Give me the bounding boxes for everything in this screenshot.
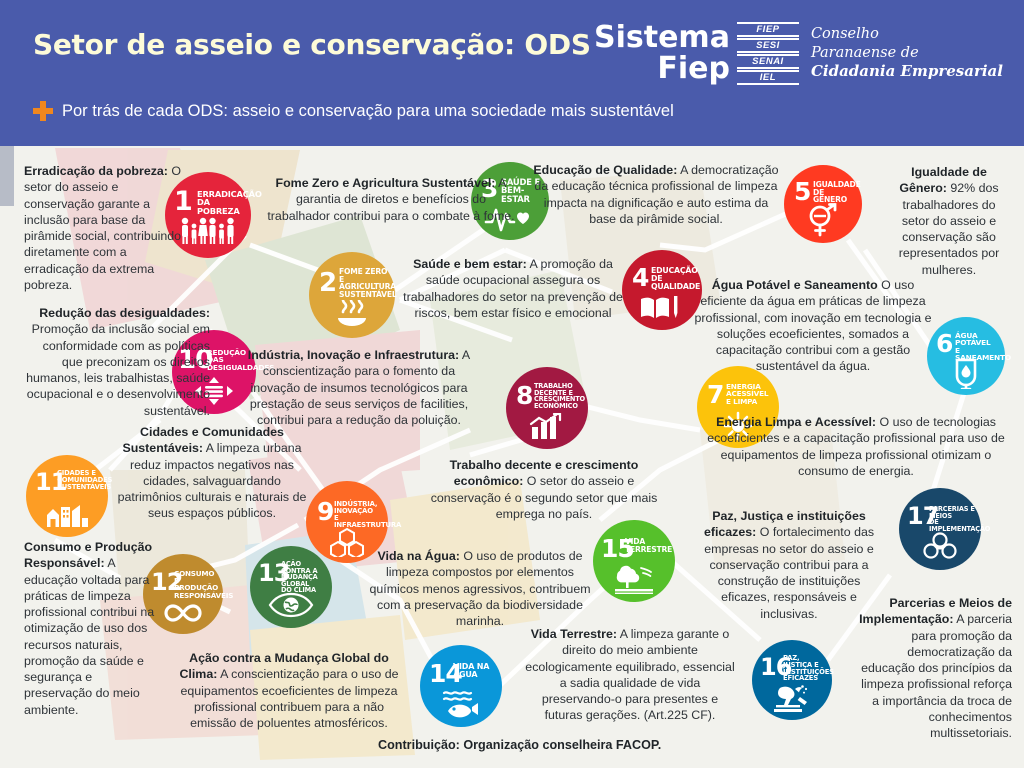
text-block-sdg-17: Parcerias e Meios de Implementação: A pa… xyxy=(852,595,1012,741)
sdg-14-heading: Vida na Água: xyxy=(377,549,459,563)
text-block-sdg-3: Saúde e bem estar: A promoção da saúde o… xyxy=(402,256,624,321)
book-icon xyxy=(622,294,702,327)
text-block-sdg-11: Cidades e Comunidades Sustentáveis: A li… xyxy=(116,424,308,522)
sdg-10-body: Promoção da inclusão social em conformid… xyxy=(26,322,210,417)
sdg-circle-4[interactable]: 4 EDUCAÇÃO DEQUALIDADE xyxy=(622,250,702,330)
sdg-circle-11[interactable]: 11 CIDADES ECOMUNIDADESSUSTENTÁVEIS xyxy=(26,455,108,537)
page-header: Setor de asseio e conservação: ODS Por t… xyxy=(0,0,1024,146)
page-title: Setor de asseio e conservação: ODS xyxy=(33,28,591,61)
sdg-10-heading: Redução das desigualdades: xyxy=(39,306,210,320)
circles-icon xyxy=(899,532,981,567)
sdg-circle-15[interactable]: 15 VIDATERRESTRE xyxy=(593,520,675,602)
logo-tagline-3: Cidadania Empresarial xyxy=(811,62,1003,81)
logo-line-1: Sistema xyxy=(594,23,730,54)
sdg-9-heading: Indústria, Inovação e Infraestrutura: xyxy=(248,348,459,362)
logo-bar-fiep: FIEP xyxy=(737,22,799,37)
sdg-9-number: 9 xyxy=(317,499,333,524)
footnote-text: Contribuição: Organização conselheira FA… xyxy=(378,738,661,752)
bowl-icon xyxy=(309,300,395,335)
sdg-circle-17[interactable]: 17 PARCERIAS E MEIOSDE IMPLEMENTAÇÃO xyxy=(899,488,981,570)
sdg-2-label: FOME ZERO EAGRICULTURASUSTENTÁVEL xyxy=(339,268,393,298)
sdg-1-body: O setor do asseio e conservação garante … xyxy=(24,164,181,292)
logo-tagline-1: Conselho xyxy=(811,25,1003,44)
gender-icon xyxy=(784,203,862,242)
page-subtitle: Por trás de cada ODS: asseio e conservaç… xyxy=(62,102,674,121)
chart-icon xyxy=(506,413,588,446)
sdg-1-label: ERRADICAÇÃODA POBREZA xyxy=(197,190,249,215)
sdg-16-body: O fortalecimento das empresas no setor d… xyxy=(704,525,874,620)
sistema-fiep-logo: Sistema Fiep FIEP SESI SENAI IEL Conselh… xyxy=(594,22,1003,85)
logo-bar-iel: IEL xyxy=(737,70,799,85)
sdg-12-body: A educação voltada para práticas de limp… xyxy=(24,556,154,716)
sdg-7-heading: Energia Limpa e Acessível: xyxy=(716,415,876,429)
sdg-circle-6[interactable]: 6 ÁGUA POTÁVELE SANEAMENTO xyxy=(927,317,1005,395)
sdg-circle-13[interactable]: 13 AÇÃO CONTRA AMUDANÇA GLOBALDO CLIMA xyxy=(250,546,332,628)
left-edge-accent xyxy=(0,146,14,206)
sdg-8-number: 8 xyxy=(516,383,532,408)
sdg-15-heading: Vida Terrestre: xyxy=(531,627,617,641)
sdg-7-label: ENERGIA ACESSÍVELE LIMPA xyxy=(726,383,776,405)
sdg-6-body: O uso eficiente da água em práticas de l… xyxy=(695,278,932,373)
sdg-2-number: 2 xyxy=(319,270,336,296)
text-block-sdg-10: Redução das desigualdades: Promoção da i… xyxy=(22,305,210,419)
text-block-sdg-5: Igualdade de Gênero: 92% dos trabalhador… xyxy=(888,164,1010,278)
logo-tagline-2: Paranaense de xyxy=(811,44,1003,63)
logo-wordmark: Sistema Fiep xyxy=(594,23,730,84)
text-block-sdg-4: Educação de Qualidade: A democratização … xyxy=(532,162,780,227)
sdg-4-number: 4 xyxy=(632,265,648,290)
sdg-12-label: CONSUMO EPRODUÇÃORESPONSÁVEIS xyxy=(174,570,220,599)
sdg-4-heading: Educação de Qualidade: xyxy=(533,163,677,177)
fish-icon xyxy=(420,689,502,724)
sdg-5-number: 5 xyxy=(794,179,810,204)
sdg-9-label: INDÚSTRIA, INOVAÇÃOE INFRAESTRUTURA xyxy=(334,501,388,529)
sdg-circle-5[interactable]: 5 IGUALDADEDE GÊNERO xyxy=(784,165,862,243)
sdg-14-label: VIDA NAÁGUA xyxy=(453,663,499,679)
sdg-1-heading: Erradicação da pobreza: xyxy=(24,164,168,178)
text-block-sdg-1: Erradicação da pobreza: O setor do assei… xyxy=(24,163,184,293)
sdg-12-heading: Consumo e Produção Responsável: xyxy=(24,540,152,570)
sdg-15-label: VIDATERRESTRE xyxy=(625,538,673,553)
sdg-6-number: 6 xyxy=(936,331,952,356)
sdg-5-body: 92% dos trabalhadores do setor do asseio… xyxy=(899,181,1000,276)
sdg-16-label: PAZ, JUSTIÇA EINSTITUIÇÕESEFICAZES xyxy=(783,655,829,682)
infographic-canvas: 1 ERRADICAÇÃODA POBREZA 2 FOME ZERO EAGR… xyxy=(0,0,1024,768)
sdg-circle-2[interactable]: 2 FOME ZERO EAGRICULTURASUSTENTÁVEL xyxy=(309,252,395,338)
text-block-sdg-8: Trabalho decente e crescimento econômico… xyxy=(426,457,662,522)
text-block-sdg-14: Vida na Água: O uso de produtos de limpe… xyxy=(366,548,594,629)
sdg-6-heading: Água Potável e Saneamento xyxy=(712,278,878,292)
logo-bar-senai: SENAI xyxy=(737,54,799,69)
sdg-17-label: PARCERIAS E MEIOSDE IMPLEMENTAÇÃO xyxy=(929,506,979,532)
logo-brand-bars: FIEP SESI SENAI IEL xyxy=(737,22,799,85)
sdg-8-label: TRABALHO DECENTE ECRESCIMENTOECONÔMICO xyxy=(534,383,586,409)
sdg-2-heading: Fome Zero e Agricultura Sustentável: xyxy=(276,176,496,190)
text-block-sdg-7: Energia Limpa e Acessível: O uso de tecn… xyxy=(702,414,1010,479)
tree-icon xyxy=(593,562,675,599)
sdg-13-label: AÇÃO CONTRA AMUDANÇA GLOBALDO CLIMA xyxy=(281,561,329,594)
eye-globe-icon xyxy=(250,592,332,623)
sdg-circle-16[interactable]: 16 PAZ, JUSTIÇA EINSTITUIÇÕESEFICAZES xyxy=(752,640,832,720)
sdg-circle-8[interactable]: 8 TRABALHO DECENTE ECRESCIMENTOECONÔMICO xyxy=(506,367,588,449)
sdg-17-body: A parceria para promoção da democratizaç… xyxy=(861,612,1012,740)
text-block-sdg-13: Ação contra a Mudança Global do Clima: A… xyxy=(176,650,402,731)
text-block-sdg-12: Consumo e Produção Responsável: A educaç… xyxy=(24,539,160,718)
sdg-3-heading: Saúde e bem estar: xyxy=(413,257,527,271)
text-block-sdg-9: Indústria, Inovação e Infraestrutura: A … xyxy=(240,347,478,428)
city-icon xyxy=(26,501,108,534)
logo-bar-sesi: SESI xyxy=(737,38,799,53)
water-icon xyxy=(927,355,1005,394)
subtitle-row: Por trás de cada ODS: asseio e conservaç… xyxy=(33,101,674,121)
sdg-5-label: IGUALDADEDE GÊNERO xyxy=(813,181,859,204)
text-block-sdg-15: Vida Terrestre: A limpeza garante o dire… xyxy=(522,626,738,724)
logo-line-2: Fiep xyxy=(594,54,730,85)
text-block-sdg-6: Água Potável e Saneamento O uso eficient… xyxy=(693,277,933,375)
sdg-11-label: CIDADES ECOMUNIDADESSUSTENTÁVEIS xyxy=(57,470,105,490)
logo-tagline: Conselho Paranaense de Cidadania Empresa… xyxy=(811,25,1003,81)
sdg-15-body: A limpeza garante o direito do meio ambi… xyxy=(525,627,734,722)
sdg-7-number: 7 xyxy=(707,382,723,407)
text-block-sdg-2: Fome Zero e Agricultura Sustentável: A g… xyxy=(266,175,516,224)
plus-icon xyxy=(33,101,53,121)
dove-icon xyxy=(752,684,832,719)
sdg-circle-14[interactable]: 14 VIDA NAÁGUA xyxy=(420,645,502,727)
